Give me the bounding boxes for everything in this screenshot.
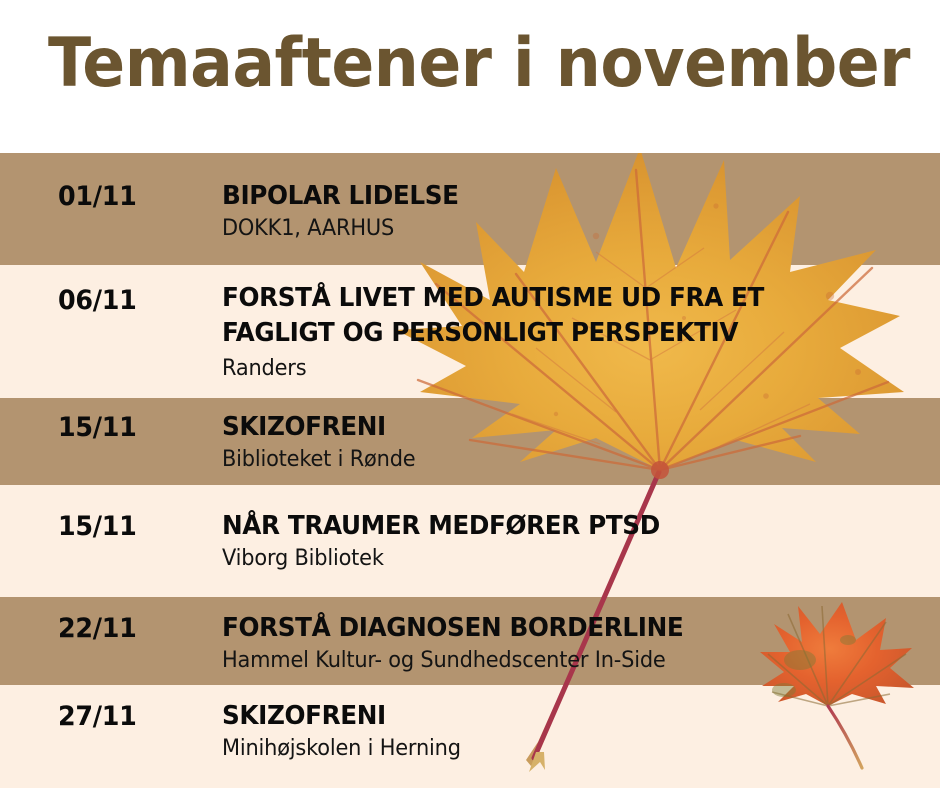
event-title: FORSTÅ LIVET MED AUTISME UD FRA ET bbox=[222, 281, 897, 316]
list-item[interactable]: 15/11 SKIZOFRENI Biblioteket i Rønde bbox=[0, 398, 940, 485]
event-body: FORSTÅ DIAGNOSEN BORDERLINE Hammel Kultu… bbox=[222, 611, 932, 676]
poster-header: Temaaftener i november bbox=[0, 0, 940, 153]
list-item[interactable]: 01/11 BIPOLAR LIDELSE DOKK1, AARHUS bbox=[0, 153, 940, 265]
event-body: BIPOLAR LIDELSE DOKK1, AARHUS bbox=[222, 179, 932, 244]
list-item[interactable]: 06/11 FORSTÅ LIVET MED AUTISME UD FRA ET… bbox=[0, 265, 940, 398]
event-venue: DOKK1, AARHUS bbox=[222, 214, 897, 244]
event-venue: Biblioteket i Rønde bbox=[222, 445, 897, 475]
event-title-line2: FAGLIGT OG PERSONLIGT PERSPEKTIV bbox=[222, 316, 897, 351]
event-title: BIPOLAR LIDELSE bbox=[222, 179, 897, 214]
event-date: 15/11 bbox=[58, 511, 190, 543]
event-title: SKIZOFRENI bbox=[222, 699, 897, 734]
event-date: 15/11 bbox=[58, 412, 190, 444]
event-date: 01/11 bbox=[58, 181, 190, 213]
event-title: FORSTÅ DIAGNOSEN BORDERLINE bbox=[222, 611, 897, 646]
event-date: 27/11 bbox=[58, 701, 190, 733]
event-date: 22/11 bbox=[58, 613, 190, 645]
poster-canvas: Temaaftener i november 01/11 BIPOLAR LID… bbox=[0, 0, 940, 788]
page-title: Temaaftener i november bbox=[48, 24, 910, 104]
event-date: 06/11 bbox=[58, 285, 190, 317]
event-body: SKIZOFRENI Minihøjskolen i Herning bbox=[222, 699, 932, 764]
list-item[interactable]: 15/11 NÅR TRAUMER MEDFØRER PTSD Viborg B… bbox=[0, 485, 940, 597]
list-item[interactable]: 27/11 SKIZOFRENI Minihøjskolen i Herning bbox=[0, 685, 940, 788]
event-title: SKIZOFRENI bbox=[222, 410, 897, 445]
event-venue: Hammel Kultur- og Sundhedscenter In-Side bbox=[222, 646, 897, 676]
event-venue: Viborg Bibliotek bbox=[222, 544, 897, 574]
event-body: SKIZOFRENI Biblioteket i Rønde bbox=[222, 410, 932, 475]
event-body: NÅR TRAUMER MEDFØRER PTSD Viborg Bibliot… bbox=[222, 509, 932, 574]
event-venue: Minihøjskolen i Herning bbox=[222, 734, 897, 764]
event-venue: Randers bbox=[222, 354, 897, 384]
event-body: FORSTÅ LIVET MED AUTISME UD FRA ET FAGLI… bbox=[222, 281, 932, 384]
list-item[interactable]: 22/11 FORSTÅ DIAGNOSEN BORDERLINE Hammel… bbox=[0, 597, 940, 685]
event-title: NÅR TRAUMER MEDFØRER PTSD bbox=[222, 509, 897, 544]
